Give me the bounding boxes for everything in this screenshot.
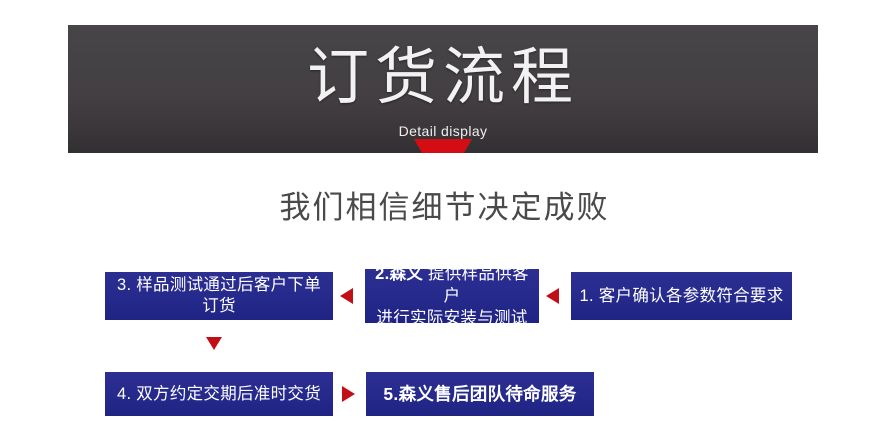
flow-step-2-brand: 2.森义 bbox=[375, 265, 423, 283]
tagline: 我们相信细节决定成败 bbox=[0, 186, 889, 230]
flow-step-1: 1. 客户确认各参数符合要求 bbox=[571, 272, 792, 320]
arrow-left-icon-step2-to-step1 bbox=[546, 288, 559, 304]
flow-step-4-label: 4. 双方约定交期后准时交货 bbox=[117, 384, 321, 405]
flow-step-3-label: 3. 样品测试通过后客户下单订货 bbox=[111, 275, 327, 317]
flow-step-5: 5.森义售后团队待命服务 bbox=[366, 372, 594, 416]
header-banner: 订货流程 Detail display bbox=[68, 25, 818, 153]
flow-step-2: 2.森义 提供样品供客户 进行实际安装与测试 bbox=[365, 269, 539, 323]
flow-step-2-line1-rest: 提供样品供客户 bbox=[423, 265, 529, 305]
banner-down-arrow-icon bbox=[414, 139, 472, 153]
flow-step-3: 3. 样品测试通过后客户下单订货 bbox=[105, 272, 333, 320]
flow-step-5-label: 5.森义售后团队待命服务 bbox=[383, 384, 576, 405]
banner-subtitle: Detail display bbox=[68, 121, 818, 141]
arrow-left-icon-step3-to-step2 bbox=[340, 288, 353, 304]
arrow-down-icon-step3-to-step4 bbox=[206, 337, 222, 350]
flow-step-1-label: 1. 客户确认各参数符合要求 bbox=[579, 286, 783, 307]
flow-step-2-line2: 进行实际安装与测试 bbox=[376, 307, 527, 329]
flow-step-4: 4. 双方约定交期后准时交货 bbox=[105, 372, 333, 416]
order-process-page: 订货流程 Detail display 我们相信细节决定成败 3. 样品测试通过… bbox=[0, 0, 889, 443]
arrow-right-icon-step4-to-step5 bbox=[342, 386, 355, 402]
flow-step-2-line1: 2.森义 提供样品供客户 bbox=[371, 263, 533, 307]
banner-title: 订货流程 bbox=[68, 35, 818, 119]
